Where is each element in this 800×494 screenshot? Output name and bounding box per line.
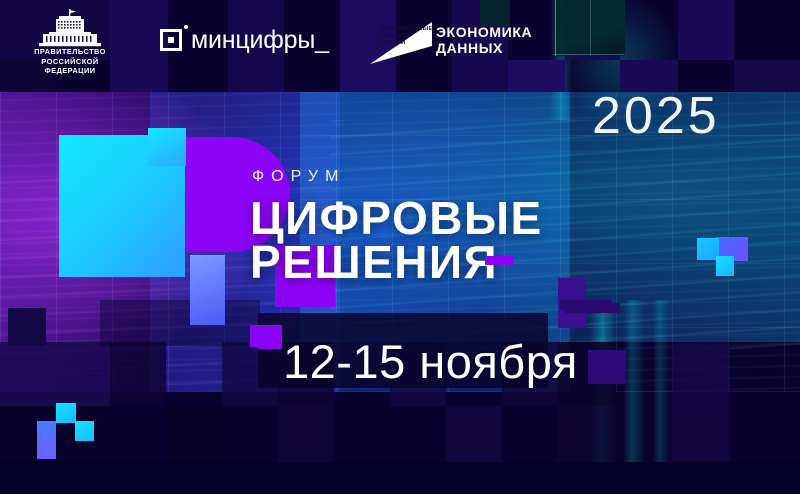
event-dates: 12-15 ноября — [283, 334, 578, 389]
kicker-label: ФОРУМ — [252, 168, 345, 186]
forum-title-line1: ЦИФРОВЫЕ — [250, 196, 543, 240]
government-logo-text: ПРАВИТЕЛЬСТВО РОССИЙСКОЙ ФЕДЕРАЦИИ — [15, 47, 125, 76]
accent-square-blue-bottom — [37, 421, 56, 459]
np-badge-line1: НАЦИОНАЛЬНЫЕ — [380, 26, 422, 33]
accent-square-purple-mark — [250, 325, 272, 347]
np-badge-line2: ПРОЕКТЫ — [380, 33, 422, 40]
header-logos: ПРАВИТЕЛЬСТВО РОССИЙСКОЙ ФЕДЕРАЦИИ минци… — [0, 0, 800, 78]
mincifry-dot-icon — [184, 25, 188, 29]
government-logo[interactable]: ПРАВИТЕЛЬСТВО РОССИЙСКОЙ ФЕДЕРАЦИИ — [15, 9, 125, 67]
national-projects-logo[interactable]: НАЦИОНАЛЬНЫЕ ПРОЕКТЫ РОССИИ ЭКОНОМИКА ДА… — [370, 14, 510, 64]
forum-poster: ПРАВИТЕЛЬСТВО РОССИЙСКОЙ ФЕДЕРАЦИИ минци… — [0, 0, 800, 494]
economy-of-data-text: ЭКОНОМИКА ДАННЫХ — [436, 24, 532, 56]
forum-title: ЦИФРОВЫЕ РЕШЕНИЯ — [250, 196, 543, 284]
accent-square-cyan-bottom2 — [75, 421, 94, 441]
government-logo-line2: РОССИЙСКОЙ ФЕДЕРАЦИИ — [15, 57, 125, 76]
mincifry-square-icon — [160, 29, 182, 51]
forum-logo-mark — [60, 120, 240, 300]
economy-of-data-line1: ЭКОНОМИКА — [436, 24, 532, 40]
mincifry-logo-text: минцифры_ — [191, 26, 329, 55]
accent-square-violet-bottomright — [588, 350, 626, 384]
economy-of-data-line2: ДАННЫХ — [436, 40, 532, 56]
accent-square-cyan-bottom1 — [56, 403, 76, 423]
year-label: 2025 — [592, 86, 720, 146]
government-logo-line1: ПРАВИТЕЛЬСТВО — [15, 47, 125, 57]
accent-square-violet-left — [8, 308, 46, 346]
mincifry-logo[interactable]: минцифры_ — [160, 25, 329, 55]
government-building-icon — [37, 9, 103, 47]
np-badge-line3: РОССИИ — [380, 40, 422, 47]
national-projects-badge-text: НАЦИОНАЛЬНЫЕ ПРОЕКТЫ РОССИИ — [380, 26, 422, 47]
title-underscore-accent — [485, 256, 514, 265]
logomark-cyan-small-square — [148, 128, 186, 166]
accent-square-violet-farright — [560, 300, 612, 310]
accent-square-cyan-right2 — [716, 256, 734, 276]
